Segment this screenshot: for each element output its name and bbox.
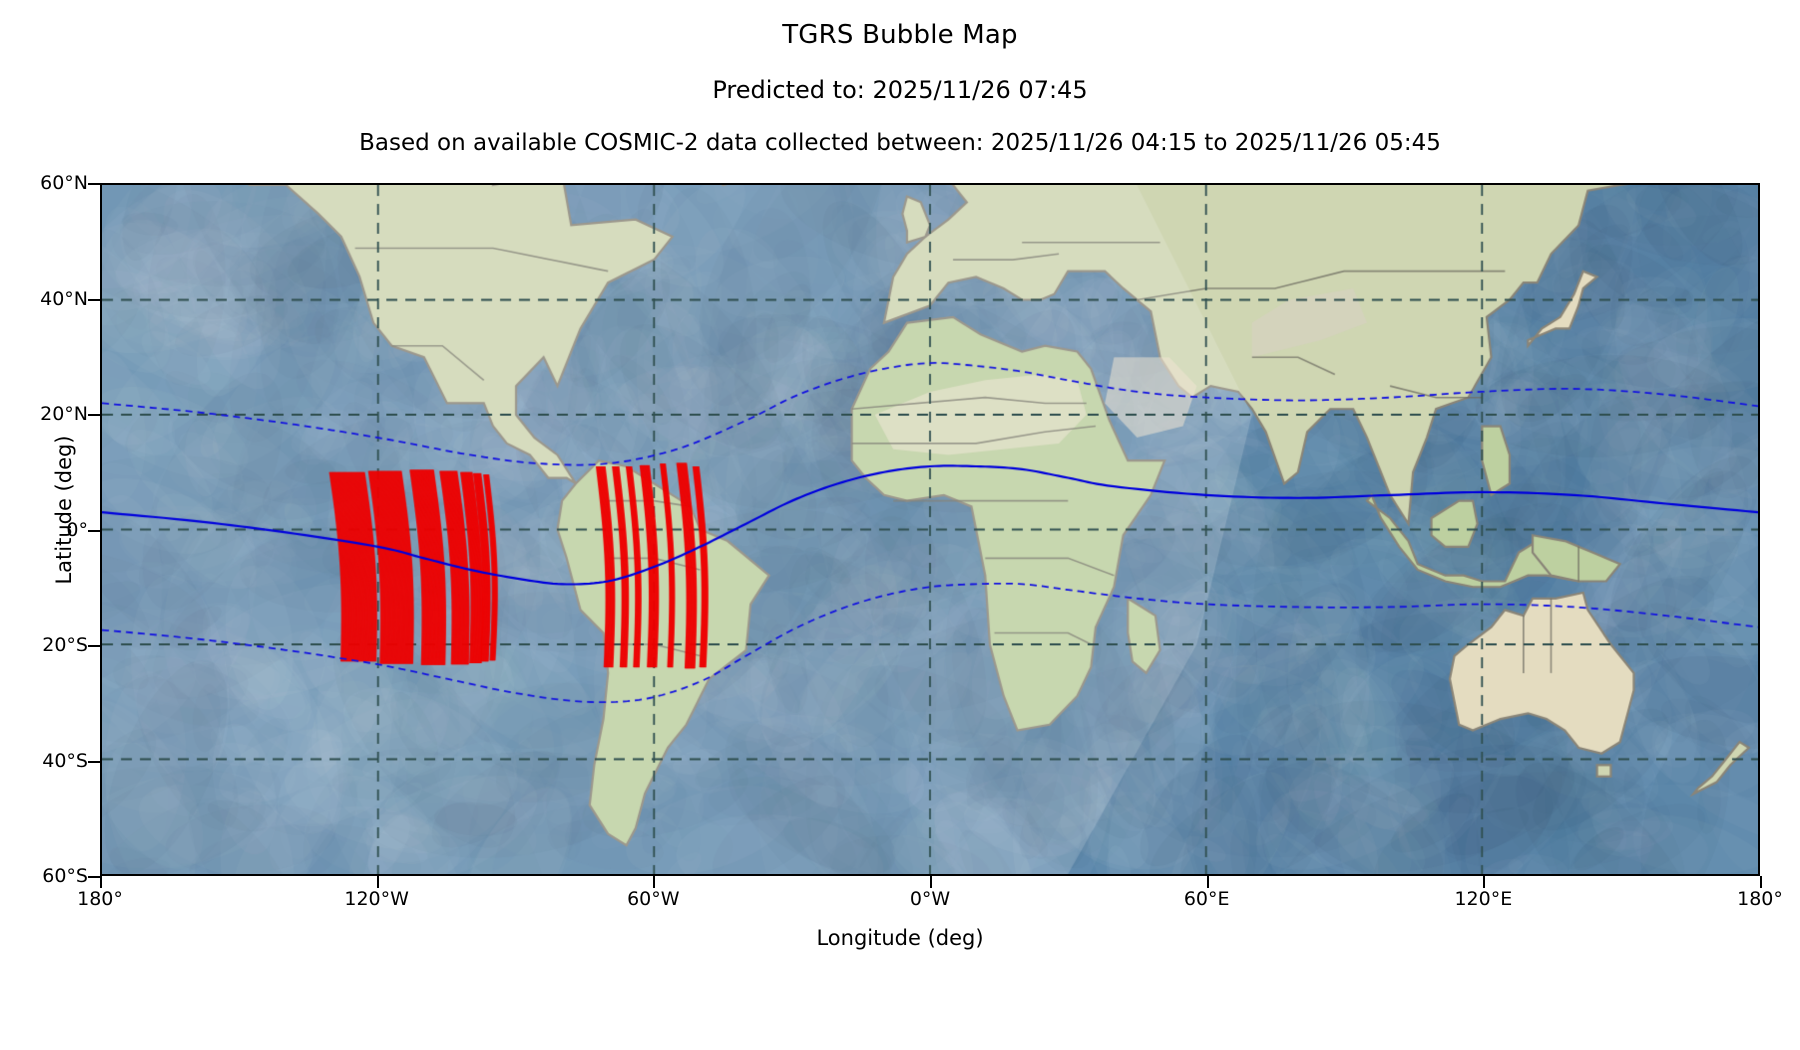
x-tick-mark: [1483, 876, 1485, 888]
y-tick-mark: [88, 183, 100, 185]
x-tick-label: 120°E: [1454, 888, 1512, 910]
data-window-subtitle: Based on available COSMIC-2 data collect…: [0, 130, 1800, 156]
predicted-to-subtitle: Predicted to: 2025/11/26 07:45: [0, 76, 1800, 104]
x-tick-label: 180°: [77, 888, 123, 910]
map-plot-area[interactable]: Occultations: 14 GEOs: 76: [100, 183, 1760, 876]
y-tick-mark: [88, 414, 100, 416]
y-tick-mark: [88, 299, 100, 301]
x-tick-mark: [1760, 876, 1762, 888]
x-tick-mark: [100, 876, 102, 888]
x-tick-label: 60°E: [1184, 888, 1230, 910]
world-map-canvas: [102, 185, 1758, 874]
x-tick-mark: [930, 876, 932, 888]
x-tick-label: 180°: [1737, 888, 1783, 910]
x-tick-mark: [653, 876, 655, 888]
x-tick-label: 60°W: [627, 888, 679, 910]
y-tick-mark: [88, 530, 100, 532]
chart-header: TGRS Bubble Map Predicted to: 2025/11/26…: [0, 0, 1800, 156]
y-axis-title: Latitude (deg): [52, 160, 76, 860]
y-tick-mark: [88, 761, 100, 763]
x-tick-mark: [1207, 876, 1209, 888]
x-tick-label: 0°W: [910, 888, 950, 910]
x-axis-title: Longitude (deg): [0, 926, 1800, 950]
x-tick-label: 120°W: [344, 888, 409, 910]
y-tick-mark: [88, 876, 100, 878]
y-tick-label: 60°S: [0, 865, 88, 887]
x-tick-mark: [377, 876, 379, 888]
y-tick-mark: [88, 645, 100, 647]
page-title: TGRS Bubble Map: [0, 20, 1800, 50]
